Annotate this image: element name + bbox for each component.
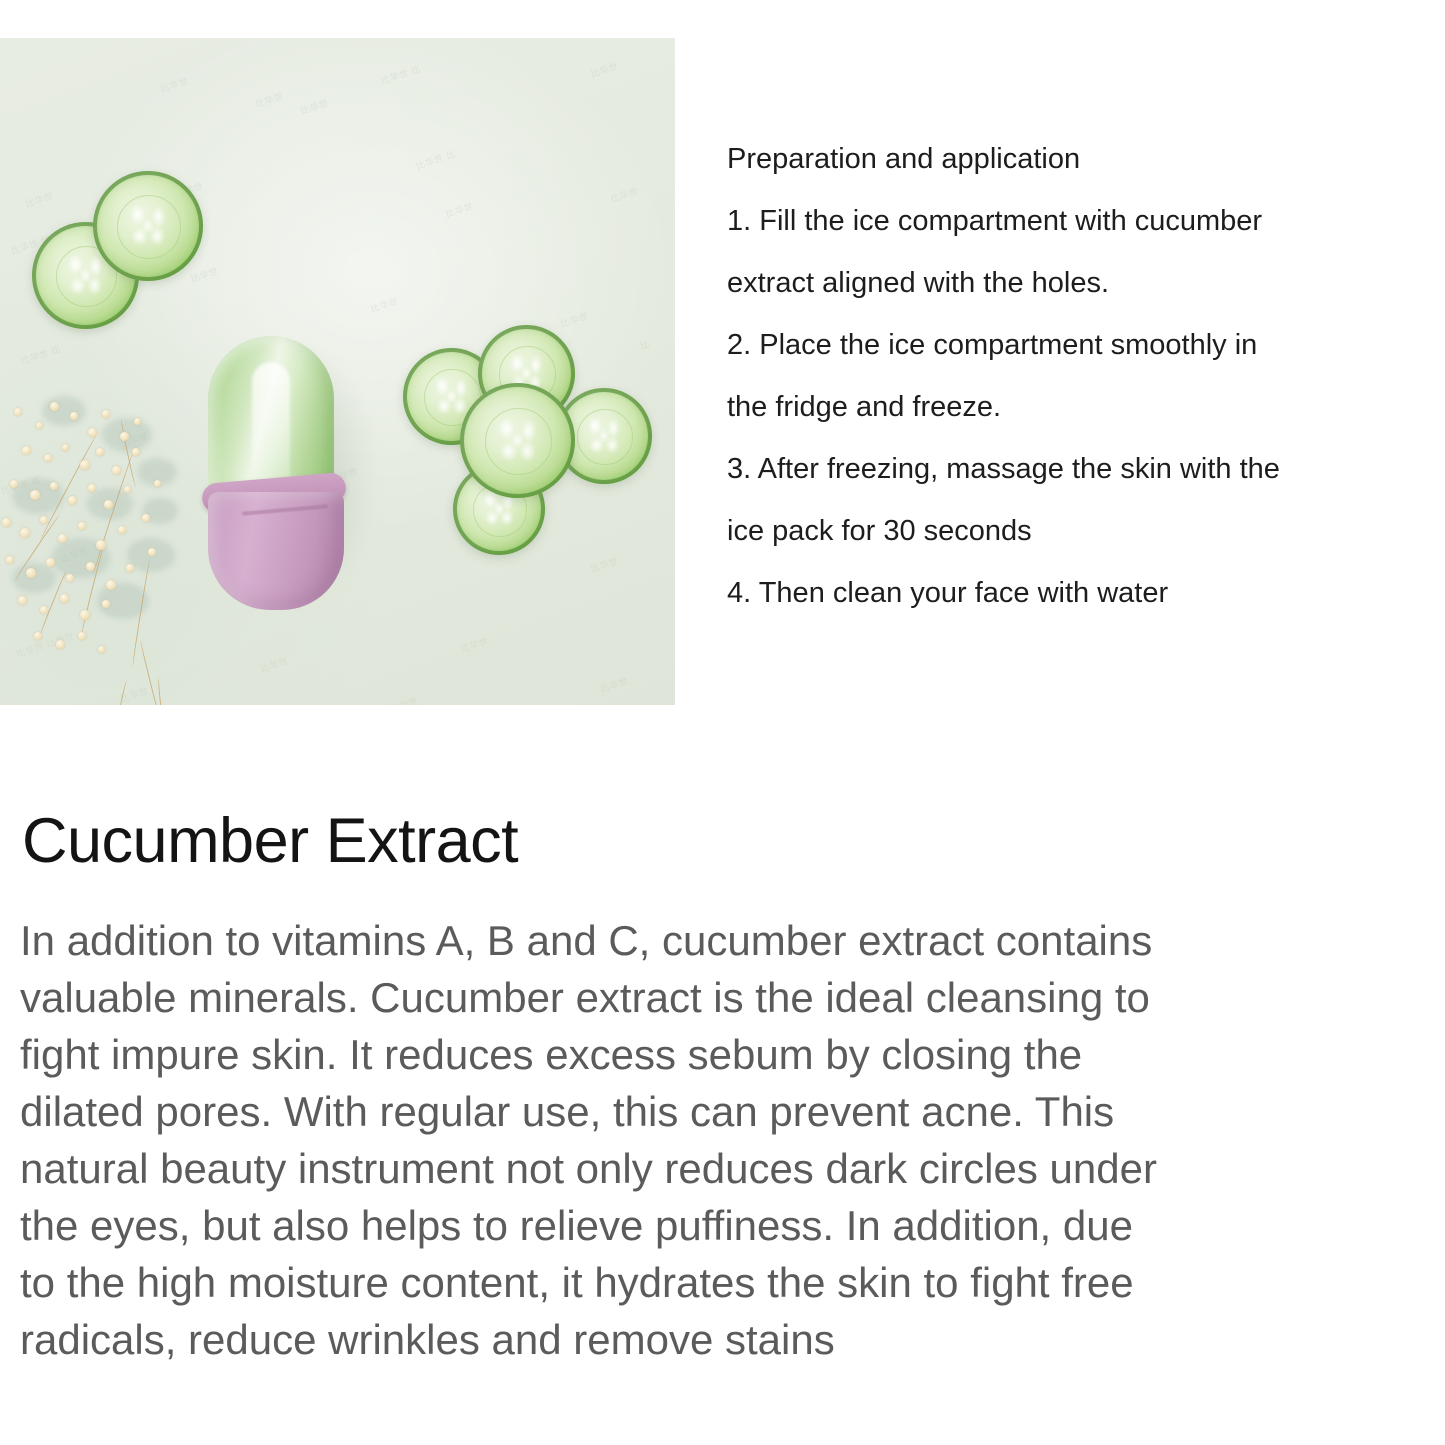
cucumber-seeds <box>490 413 545 468</box>
cucumber-slice <box>93 171 203 281</box>
description-line: In addition to vitamins A, B and C, cucu… <box>20 912 1420 969</box>
instruction-step-line: 2. Place the ice compartment smoothly in <box>727 314 1439 376</box>
product-photo: 比华世 比华世 比 比华世 比华世 比华世 比华世 比华世 比 比华世 比华世 … <box>0 38 675 705</box>
description-line: radicals, reduce wrinkles and remove sta… <box>20 1311 1420 1368</box>
cucumber-slice <box>460 383 575 498</box>
instruction-step-line: 1. Fill the ice compartment with cucumbe… <box>727 190 1439 252</box>
dried-flowers <box>0 388 222 705</box>
description-line: fight impure skin. It reduces excess seb… <box>20 1026 1420 1083</box>
instruction-step-line: extract aligned with the holes. <box>727 252 1439 314</box>
description-line: dilated pores. With regular use, this ca… <box>20 1083 1420 1140</box>
description-body: In addition to vitamins A, B and C, cucu… <box>20 912 1420 1368</box>
roller-base-seam <box>242 504 328 515</box>
description-line: natural beauty instrument not only reduc… <box>20 1140 1420 1197</box>
roller-base <box>208 492 344 610</box>
instructions-block: Preparation and application 1. Fill the … <box>727 128 1439 624</box>
instruction-step-line: ice pack for 30 seconds <box>727 500 1439 562</box>
page-title: Cucumber Extract <box>22 802 518 880</box>
cucumber-seeds <box>581 413 627 459</box>
instruction-step-line: the fridge and freeze. <box>727 376 1439 438</box>
description-line: valuable minerals. Cucumber extract is t… <box>20 969 1420 1026</box>
top-section: 比华世 比华世 比 比华世 比华世 比华世 比华世 比华世 比 比华世 比华世 … <box>0 0 1445 740</box>
ice-roller-product <box>202 336 352 611</box>
instruction-step-line: 3. After freezing, massage the skin with… <box>727 438 1439 500</box>
instructions-title: Preparation and application <box>727 128 1439 190</box>
description-line: to the high moisture content, it hydrate… <box>20 1254 1420 1311</box>
instruction-step-line: 4. Then clean your face with water <box>727 562 1439 624</box>
description-line: the eyes, but also helps to relieve puff… <box>20 1197 1420 1254</box>
